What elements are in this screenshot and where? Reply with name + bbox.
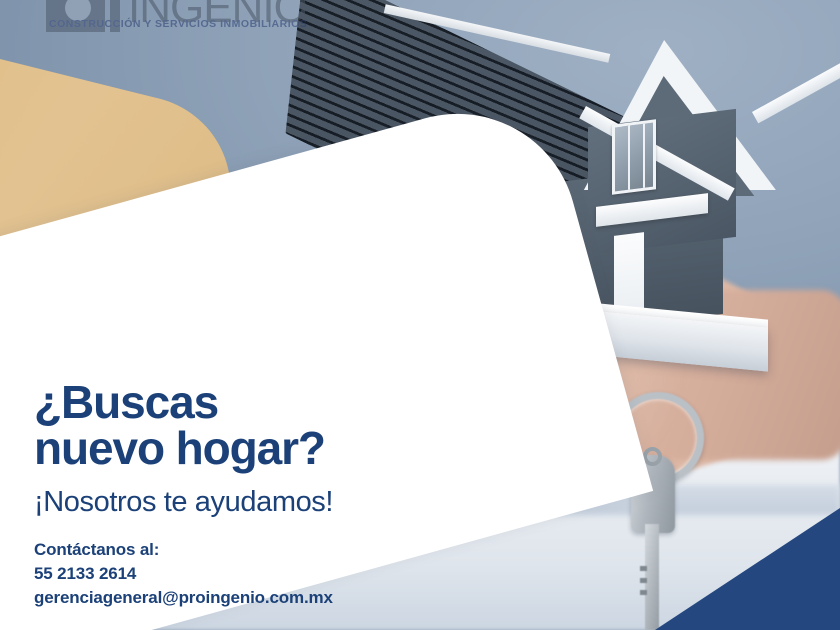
subheadline: ¡Nosotros te ayudamos! (34, 487, 504, 517)
logo-tagline: CONSTRUCCIÓN Y SERVICIOS INMOBILIARIOS (49, 18, 307, 30)
contact-phone[interactable]: 55 2133 2614 (34, 562, 504, 586)
key-notch (640, 590, 647, 595)
copy-block: ¿Buscas nuevo hogar? ¡Nosotros te ayudam… (34, 380, 504, 610)
promotional-poster: INGENIO CONSTRUCCIÓN Y SERVICIOS INMOBIL… (0, 0, 840, 630)
brand-logo[interactable]: INGENIO CONSTRUCCIÓN Y SERVICIOS INMOBIL… (46, 0, 346, 46)
contact-email[interactable]: gerenciageneral@proingenio.com.mx (34, 586, 504, 610)
eave-right (752, 49, 840, 123)
gable-window (612, 119, 656, 194)
navy-corner-accent (655, 508, 840, 630)
contact-block: Contáctanos al: 55 2133 2614 gerenciagen… (34, 538, 504, 610)
contact-label: Contáctanos al: (34, 538, 504, 562)
page-title: ¿Buscas nuevo hogar? (34, 380, 504, 471)
key-notch (640, 578, 647, 583)
key-hole (643, 447, 662, 466)
key-notch (640, 566, 647, 571)
